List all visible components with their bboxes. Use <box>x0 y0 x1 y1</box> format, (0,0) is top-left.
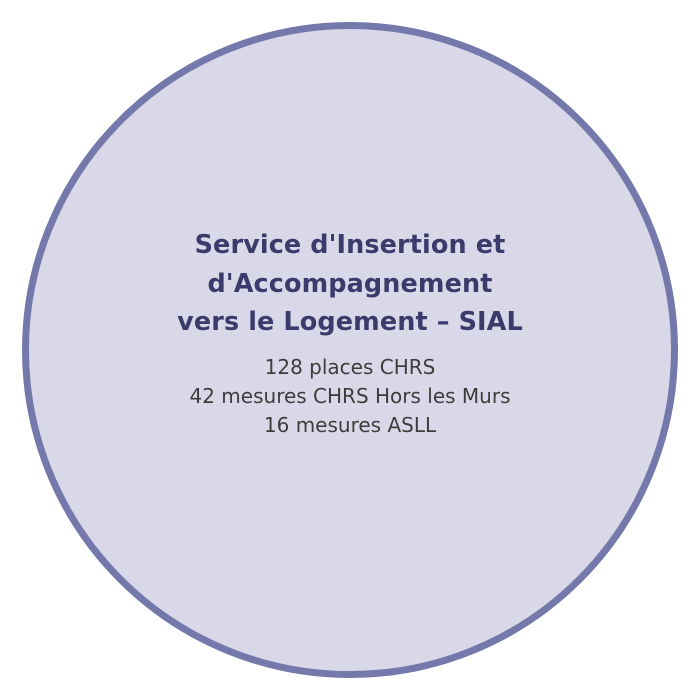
diagram-canvas: Service d'Insertion et d'Accompagnement … <box>0 0 700 700</box>
circle-node-sial[interactable] <box>22 22 678 678</box>
